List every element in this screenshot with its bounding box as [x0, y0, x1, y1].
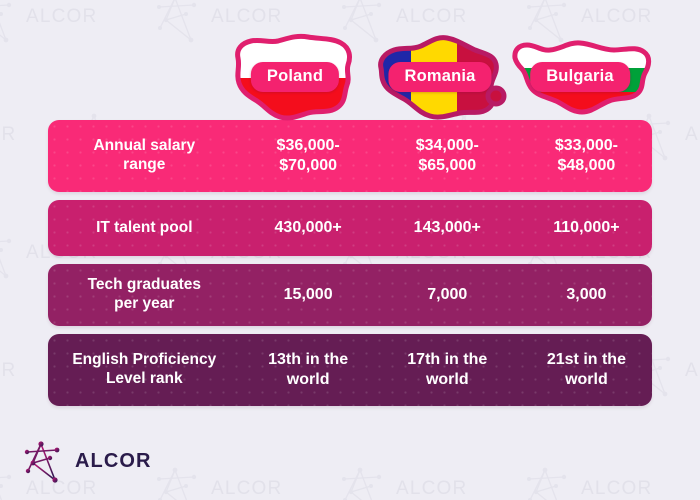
- row-label-line: Tech graduates: [54, 276, 235, 295]
- row-label: IT talent pool: [48, 219, 235, 238]
- cell-line: 7,000: [382, 285, 513, 305]
- brand-name: ALCOR: [75, 450, 152, 473]
- cell-poland: $36,000- $70,000: [243, 136, 374, 175]
- watermark-tile: ALCOR: [0, 344, 39, 452]
- row-label-line: Annual salary: [54, 137, 235, 156]
- alcor-constellation-icon: [0, 226, 22, 282]
- alcor-constellation-icon: [155, 462, 207, 500]
- watermark-text: ALCOR: [685, 360, 700, 382]
- watermark-text: ALCOR: [581, 478, 652, 500]
- row-label: Tech graduates per year: [48, 276, 235, 314]
- alcor-constellation-icon: [0, 462, 22, 500]
- cell-line: 15,000: [243, 285, 374, 305]
- watermark-tile: ALCOR: [340, 462, 490, 500]
- cell-line: 143,000+: [382, 218, 513, 238]
- cell-bulgaria: 3,000: [521, 285, 652, 305]
- row-label-line: range: [54, 156, 235, 175]
- cell-line: $34,000-: [382, 136, 513, 156]
- cell-line: 110,000+: [521, 218, 652, 238]
- cell-line: 17th in the: [382, 350, 513, 370]
- alcor-constellation-icon: [340, 462, 392, 500]
- row-label: English Proficiency Level rank: [48, 351, 235, 389]
- cell-line: 430,000+: [243, 218, 374, 238]
- country-label-poland: Poland: [251, 62, 339, 92]
- cell-romania: 143,000+: [382, 218, 513, 238]
- row-label-line: IT talent pool: [54, 219, 235, 238]
- row-label-line: English Proficiency: [54, 351, 235, 370]
- alcor-constellation-icon: [525, 462, 577, 500]
- watermark-tile: ALCOR: [525, 462, 675, 500]
- cell-line: $33,000-: [521, 136, 652, 156]
- cell-line: 13th in the: [243, 350, 374, 370]
- cell-romania: 7,000: [382, 285, 513, 305]
- comparison-table: Annual salary range $36,000- $70,000 $34…: [48, 120, 652, 414]
- cell-bulgaria: 21st in the world: [521, 350, 652, 389]
- table-row: Annual salary range $36,000- $70,000 $34…: [48, 120, 652, 192]
- cell-line: 3,000: [521, 285, 652, 305]
- country-label-bulgaria: Bulgaria: [530, 62, 630, 92]
- table-row: Tech graduates per year 15,000 7,000 3,0…: [48, 264, 652, 326]
- table-row: English Proficiency Level rank 13th in t…: [48, 334, 652, 406]
- country-label-romania: Romania: [388, 62, 491, 92]
- cell-line: $36,000-: [243, 136, 374, 156]
- country-romania: Romania: [365, 24, 515, 128]
- row-label-line: per year: [54, 295, 235, 314]
- cell-poland: 15,000: [243, 285, 374, 305]
- cell-line: $70,000: [243, 156, 374, 176]
- country-poland: Poland: [220, 24, 370, 128]
- infographic-canvas: ALCOR ALCOR ALCOR: [0, 0, 700, 500]
- cell-line: $48,000: [521, 156, 652, 176]
- watermark-text: ALCOR: [211, 478, 282, 500]
- row-label: Annual salary range: [48, 137, 235, 175]
- cell-poland: 13th in the world: [243, 350, 374, 389]
- cell-bulgaria: 110,000+: [521, 218, 652, 238]
- brand-logo: ALCOR: [24, 437, 152, 485]
- cell-line: world: [382, 370, 513, 390]
- cell-line: world: [243, 370, 374, 390]
- cell-line: 21st in the: [521, 350, 652, 370]
- row-label-line: Level rank: [54, 370, 235, 389]
- watermark-text: ALCOR: [0, 360, 16, 382]
- cell-poland: 430,000+: [243, 218, 374, 238]
- watermark-text: ALCOR: [396, 478, 467, 500]
- cell-line: $65,000: [382, 156, 513, 176]
- cell-romania: 17th in the world: [382, 350, 513, 389]
- country-bulgaria: Bulgaria: [505, 24, 655, 128]
- alcor-constellation-icon: [24, 437, 68, 485]
- watermark-tile: ALCOR: [155, 462, 305, 500]
- cell-bulgaria: $33,000- $48,000: [521, 136, 652, 175]
- country-header-row: Poland Romania: [0, 0, 700, 130]
- cell-romania: $34,000- $65,000: [382, 136, 513, 175]
- table-row: IT talent pool 430,000+ 143,000+ 110,000…: [48, 200, 652, 256]
- cell-line: world: [521, 370, 652, 390]
